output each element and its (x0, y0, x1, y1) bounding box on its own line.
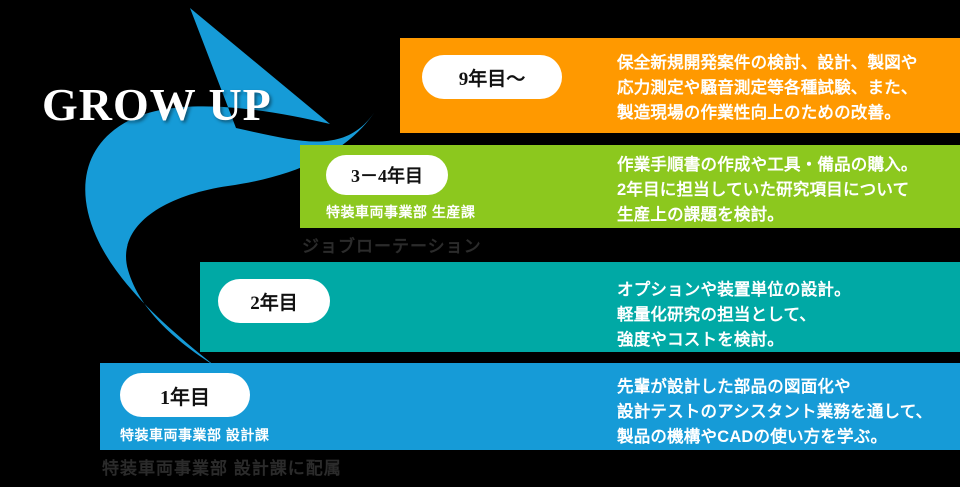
stage-band-year2: 2年目 オプションや装置単位の設計。 軽量化研究の担当として、 強度やコストを検… (200, 262, 960, 352)
stage-body-line: 応力測定や騒音測定等各種試験、また、 (617, 76, 918, 101)
stage-body-year34: 作業手順書の作成や工具・備品の購入。 2年目に担当していた研究項目について 生産… (617, 153, 918, 228)
growth-path-diagram: GROW UP 9年目～ 保全新規開発案件の検討、設計、製図や 応力測定や騒音測… (0, 0, 960, 487)
stage-body-line: 製造現場の作業性向上のための改善。 (617, 101, 918, 126)
stage-body-year9: 保全新規開発案件の検討、設計、製図や 応力測定や騒音測定等各種試験、また、 製造… (617, 51, 918, 126)
caption-assignment: 特装車両事業部 設計課に配属 (102, 454, 342, 479)
stage-body-line: 生産上の課題を検討。 (617, 203, 918, 228)
caption-job-rotation: ジョブローテーション (302, 232, 482, 257)
stage-pill-year1: 1年目 (120, 373, 250, 417)
growup-wordmark: GROW UP (42, 82, 272, 128)
stage-sublabel-year1: 特装車両事業部 設計課 (120, 425, 269, 445)
stage-body-line: 先輩が設計した部品の図面化や (617, 375, 932, 400)
stage-band-year34: 3－4年目 特装車両事業部 生産課 作業手順書の作成や工具・備品の購入。 2年目… (300, 145, 960, 228)
stage-pill-year9: 9年目～ (422, 55, 562, 99)
stage-body-line: 設計テストのアシスタント業務を通して、 (617, 400, 932, 425)
stage-body-line: 強度やコストを検討。 (617, 328, 851, 353)
stage-body-line: 作業手順書の作成や工具・備品の購入。 (617, 153, 918, 178)
stage-body-year1: 先輩が設計した部品の図面化や 設計テストのアシスタント業務を通して、 製品の機構… (617, 375, 932, 450)
stage-body-year2: オプションや装置単位の設計。 軽量化研究の担当として、 強度やコストを検討。 (617, 278, 851, 353)
stage-sublabel-year34: 特装車両事業部 生産課 (326, 202, 475, 222)
stage-body-line: 保全新規開発案件の検討、設計、製図や (617, 51, 918, 76)
stage-body-line: オプションや装置単位の設計。 (617, 278, 851, 303)
stage-body-line: 2年目に担当していた研究項目について (617, 178, 918, 203)
stage-body-line: 軽量化研究の担当として、 (617, 303, 851, 328)
stage-band-year9: 9年目～ 保全新規開発案件の検討、設計、製図や 応力測定や騒音測定等各種試験、ま… (400, 38, 960, 133)
stage-pill-year2: 2年目 (218, 279, 330, 323)
stage-band-year1: 1年目 特装車両事業部 設計課 先輩が設計した部品の図面化や 設計テストのアシス… (100, 363, 960, 450)
stage-pill-year34: 3－4年目 (326, 155, 448, 195)
stage-body-line: 製品の機構やCADの使い方を学ぶ。 (617, 425, 932, 450)
